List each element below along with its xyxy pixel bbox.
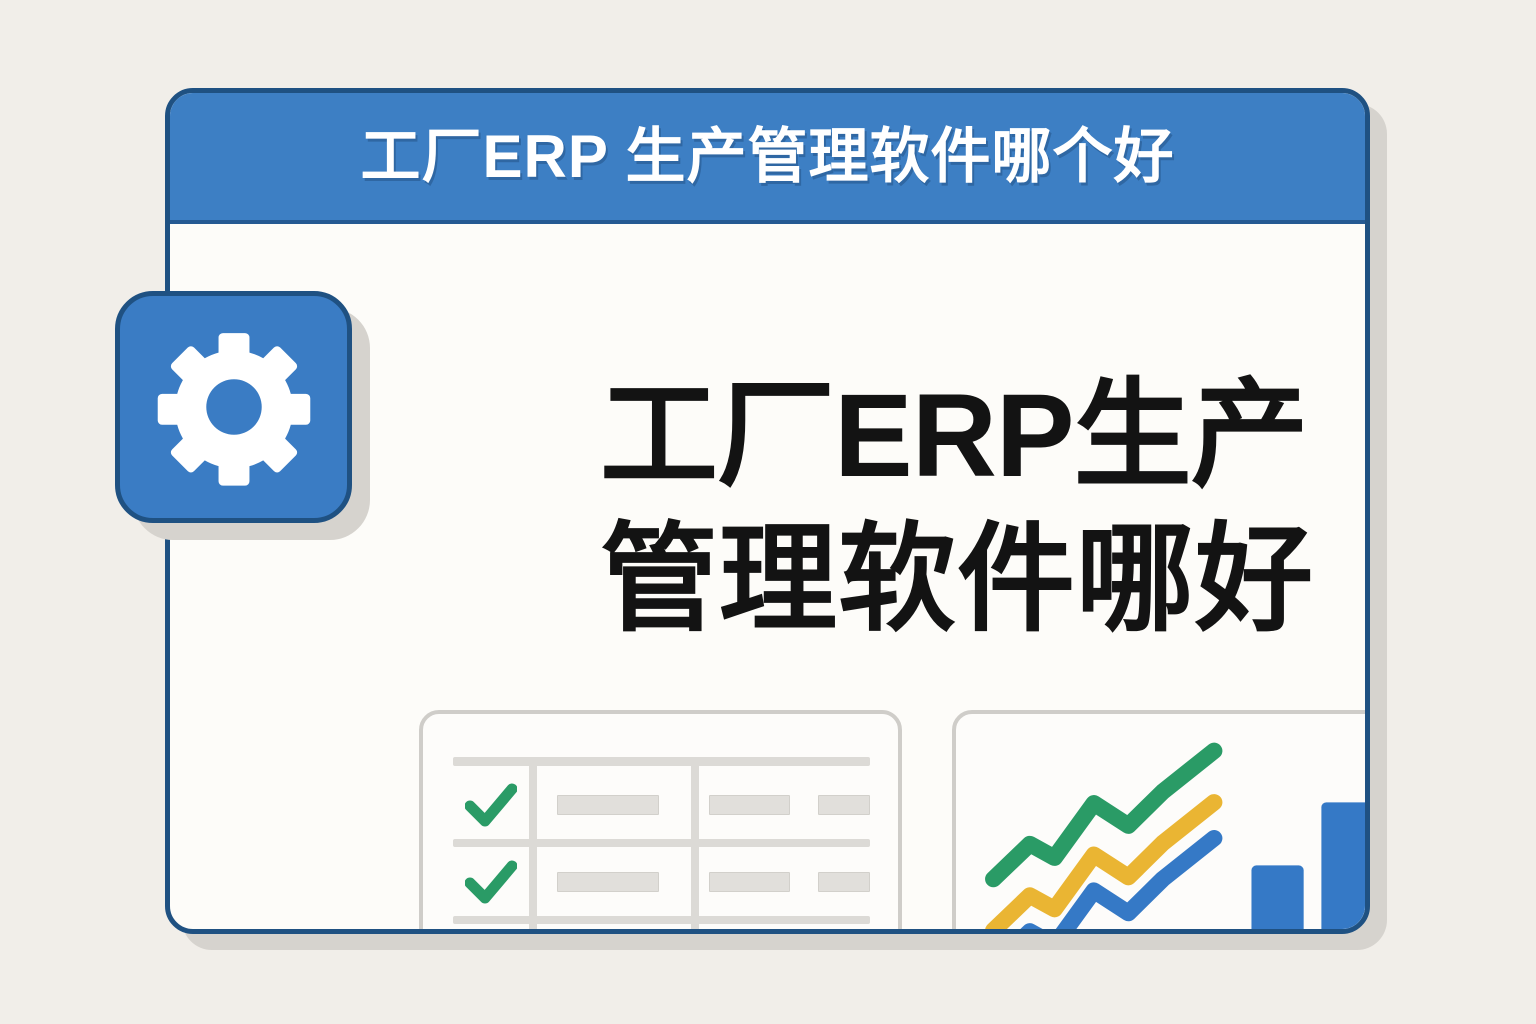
heading-line-1: 工厂ERP生产 — [600, 365, 1370, 509]
table-cell-placeholder — [557, 872, 659, 892]
table-row — [453, 771, 870, 839]
table-cell-placeholder — [557, 795, 659, 815]
check-icon — [453, 859, 529, 905]
heading-line-2: 管理软件哪好 — [600, 509, 1370, 653]
table-cell-placeholder — [818, 872, 870, 892]
table-row — [453, 848, 870, 916]
page-background: 工厂ERP 生产管理软件哪个好 工厂ERP生产 管理软件哪好 — [0, 0, 1536, 1024]
checklist-table-panel — [419, 710, 902, 934]
table-header-rule — [453, 757, 870, 766]
window-title: 工厂ERP 生产管理软件哪个好 — [361, 127, 1175, 187]
chart-bar — [1251, 865, 1303, 934]
table-cell-placeholder — [818, 795, 870, 815]
check-icon — [453, 782, 529, 828]
chart-bar — [1321, 802, 1370, 934]
table-mock — [453, 757, 870, 934]
window-titlebar: 工厂ERP 生产管理软件哪个好 — [170, 93, 1365, 224]
gear-badge[interactable] — [115, 291, 352, 523]
gear-icon — [150, 323, 318, 491]
table-cell-placeholder — [709, 795, 790, 815]
table-cell-placeholder — [709, 872, 790, 892]
table-row — [453, 925, 870, 934]
chart-mock — [956, 714, 1370, 934]
growth-chart-panel — [952, 710, 1370, 934]
table-row-divider-1 — [453, 839, 870, 847]
table-row-divider-2 — [453, 916, 870, 924]
page-heading: 工厂ERP生产 管理软件哪好 — [600, 365, 1370, 653]
